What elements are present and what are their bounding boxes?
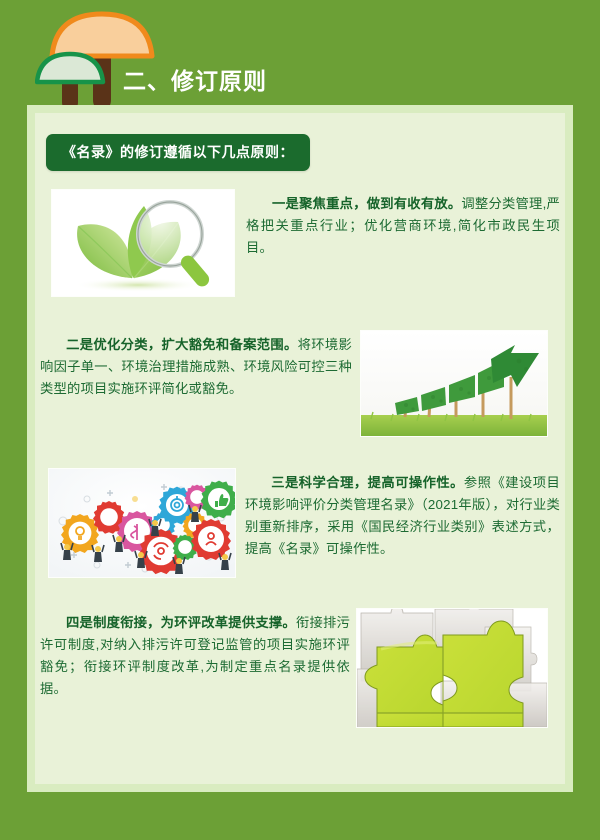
principle-4-block: 四是制度衔接，为环评改革提供支撑。衔接排污许可制度,对纳入排污许可登记监管的项目… xyxy=(40,612,350,700)
principles-intro-badge: 《名录》的修订遵循以下几点原则： xyxy=(46,134,310,171)
green-puzzle-pieces-photo xyxy=(357,609,547,727)
principle-4-lead: 四是制度衔接，为环评改革提供支撑。 xyxy=(66,615,296,630)
principle-3-block: 三是科学合理，提高可操作性。参照《建设项目环境影响评价分类管理名录》（2021年… xyxy=(245,472,560,560)
principle-1-lead: 一是聚焦重点，做到有收有放。 xyxy=(272,196,461,211)
trees-rising-arrow-photo xyxy=(361,331,547,436)
principle-1-paragraph: 一是聚焦重点，做到有收有放。调整分类管理,严格把关重点行业；优化营商环境,简化市… xyxy=(246,193,560,259)
principle-2-block: 二是优化分类，扩大豁免和备案范围。将环境影响因子单一、环境治理措施成熟、环境风险… xyxy=(40,334,352,400)
principle-2-paragraph: 二是优化分类，扩大豁免和备案范围。将环境影响因子单一、环境治理措施成熟、环境风险… xyxy=(40,334,352,400)
principle-3-paragraph: 三是科学合理，提高可操作性。参照《建设项目环境影响评价分类管理名录》（2021年… xyxy=(245,472,560,560)
page-title: 二、修订原则 xyxy=(123,62,267,96)
principle-4-paragraph: 四是制度衔接，为环评改革提供支撑。衔接排污许可制度,对纳入排污许可登记监管的项目… xyxy=(40,612,350,700)
page-header: 二、修订原则 xyxy=(0,0,600,110)
principle-2-lead: 二是优化分类，扩大豁免和备案范围。 xyxy=(66,337,298,352)
leaves-with-magnifier-photo xyxy=(52,190,234,296)
principle-3-lead: 三是科学合理，提高可操作性。 xyxy=(271,475,464,490)
colorful-gears-infographic-photo xyxy=(49,469,235,577)
principle-1-block: 一是聚焦重点，做到有收有放。调整分类管理,严格把关重点行业；优化营商环境,简化市… xyxy=(246,193,560,259)
